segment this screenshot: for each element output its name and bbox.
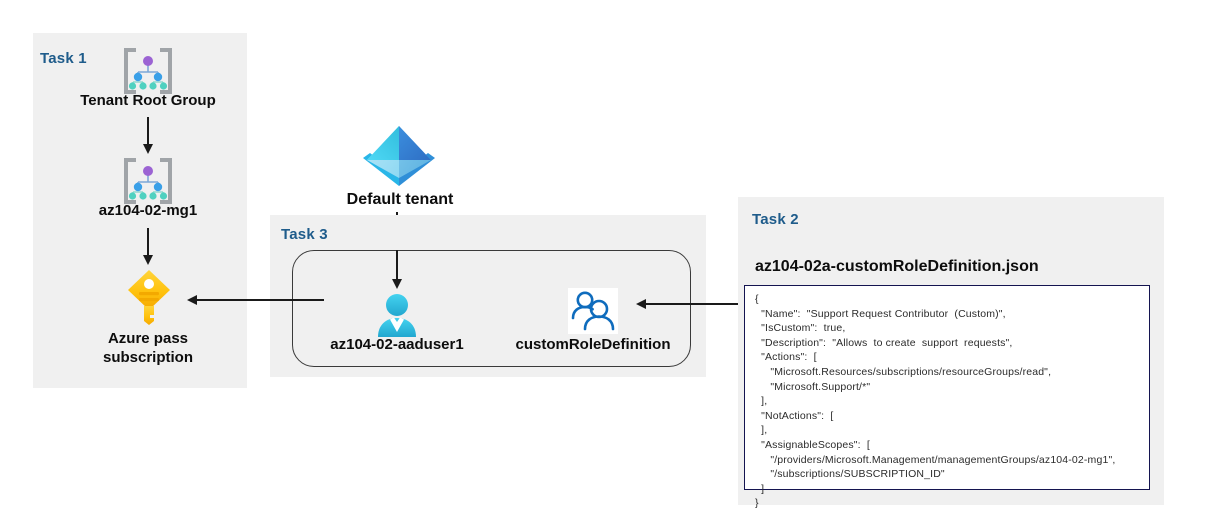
- management-group-icon: [120, 47, 176, 95]
- arrow-tenant-to-user-head: [392, 279, 402, 289]
- task3-label: Task 3: [281, 226, 328, 243]
- connector-tenant-to-user-overlay: [396, 250, 398, 280]
- management-group-label: az104-02-mg1: [48, 202, 248, 221]
- connector-task3-to-subscription: [196, 299, 324, 301]
- azure-ad-tenant-icon: [360, 120, 438, 192]
- tenant-label: Default tenant: [300, 190, 500, 210]
- json-file-name: az104-02a-customRoleDefinition.json: [755, 258, 1039, 276]
- json-content-text: { "Name": "Support Request Contributor (…: [755, 292, 1115, 511]
- role-definition-icon: [568, 288, 618, 334]
- custom-role-definition-label: customRoleDefinition: [498, 336, 688, 355]
- arrow-json-to-role: [636, 299, 646, 309]
- connector-json-to-role: [645, 303, 743, 305]
- subscription-key-icon: [123, 268, 175, 326]
- arrow-root-to-mg: [143, 144, 153, 154]
- diagram-canvas: Task 1 Tenant Root Group: [0, 0, 1212, 522]
- user-icon: [373, 292, 421, 338]
- subscription-label: Azure pass subscription: [48, 330, 248, 368]
- management-group-icon: [120, 157, 176, 205]
- connector-root-to-mg: [147, 117, 149, 145]
- task2-label: Task 2: [752, 211, 799, 228]
- connector-mg-to-subscription: [147, 228, 149, 256]
- task1-label: Task 1: [40, 50, 87, 67]
- arrow-mg-to-subscription: [143, 255, 153, 265]
- tenant-root-group-label: Tenant Root Group: [48, 92, 248, 111]
- arrow-task3-to-subscription: [187, 295, 197, 305]
- json-content-box: { "Name": "Support Request Contributor (…: [744, 285, 1150, 490]
- aad-user-label: az104-02-aaduser1: [302, 336, 492, 355]
